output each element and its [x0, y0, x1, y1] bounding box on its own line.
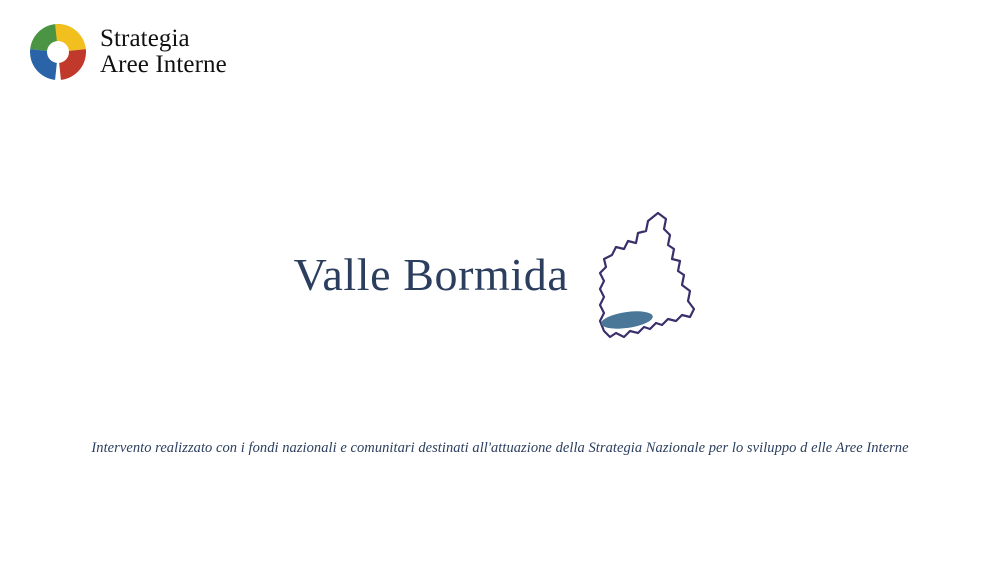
page-title: Valle Bormida [294, 248, 569, 307]
title-block: Valle Bormida [0, 205, 1000, 350]
funding-caption: Intervento realizzato con i fondi nazion… [0, 440, 1000, 457]
brand-line-1: Strategia [100, 26, 227, 53]
brand-wordmark: Strategia Aree Interne [100, 26, 227, 79]
presentation-slide: Strategia Aree Interne Valle Bormida Int… [0, 0, 1000, 562]
four-quadrant-circle-icon [28, 22, 88, 82]
partner-logo-strip: Agenzia per la Coesione Territoriale REG… [0, 474, 1000, 558]
brand-line-2: Aree Interne [100, 52, 227, 79]
piemonte-region-map-icon [586, 205, 706, 350]
brand-logo: Strategia Aree Interne [28, 22, 227, 82]
